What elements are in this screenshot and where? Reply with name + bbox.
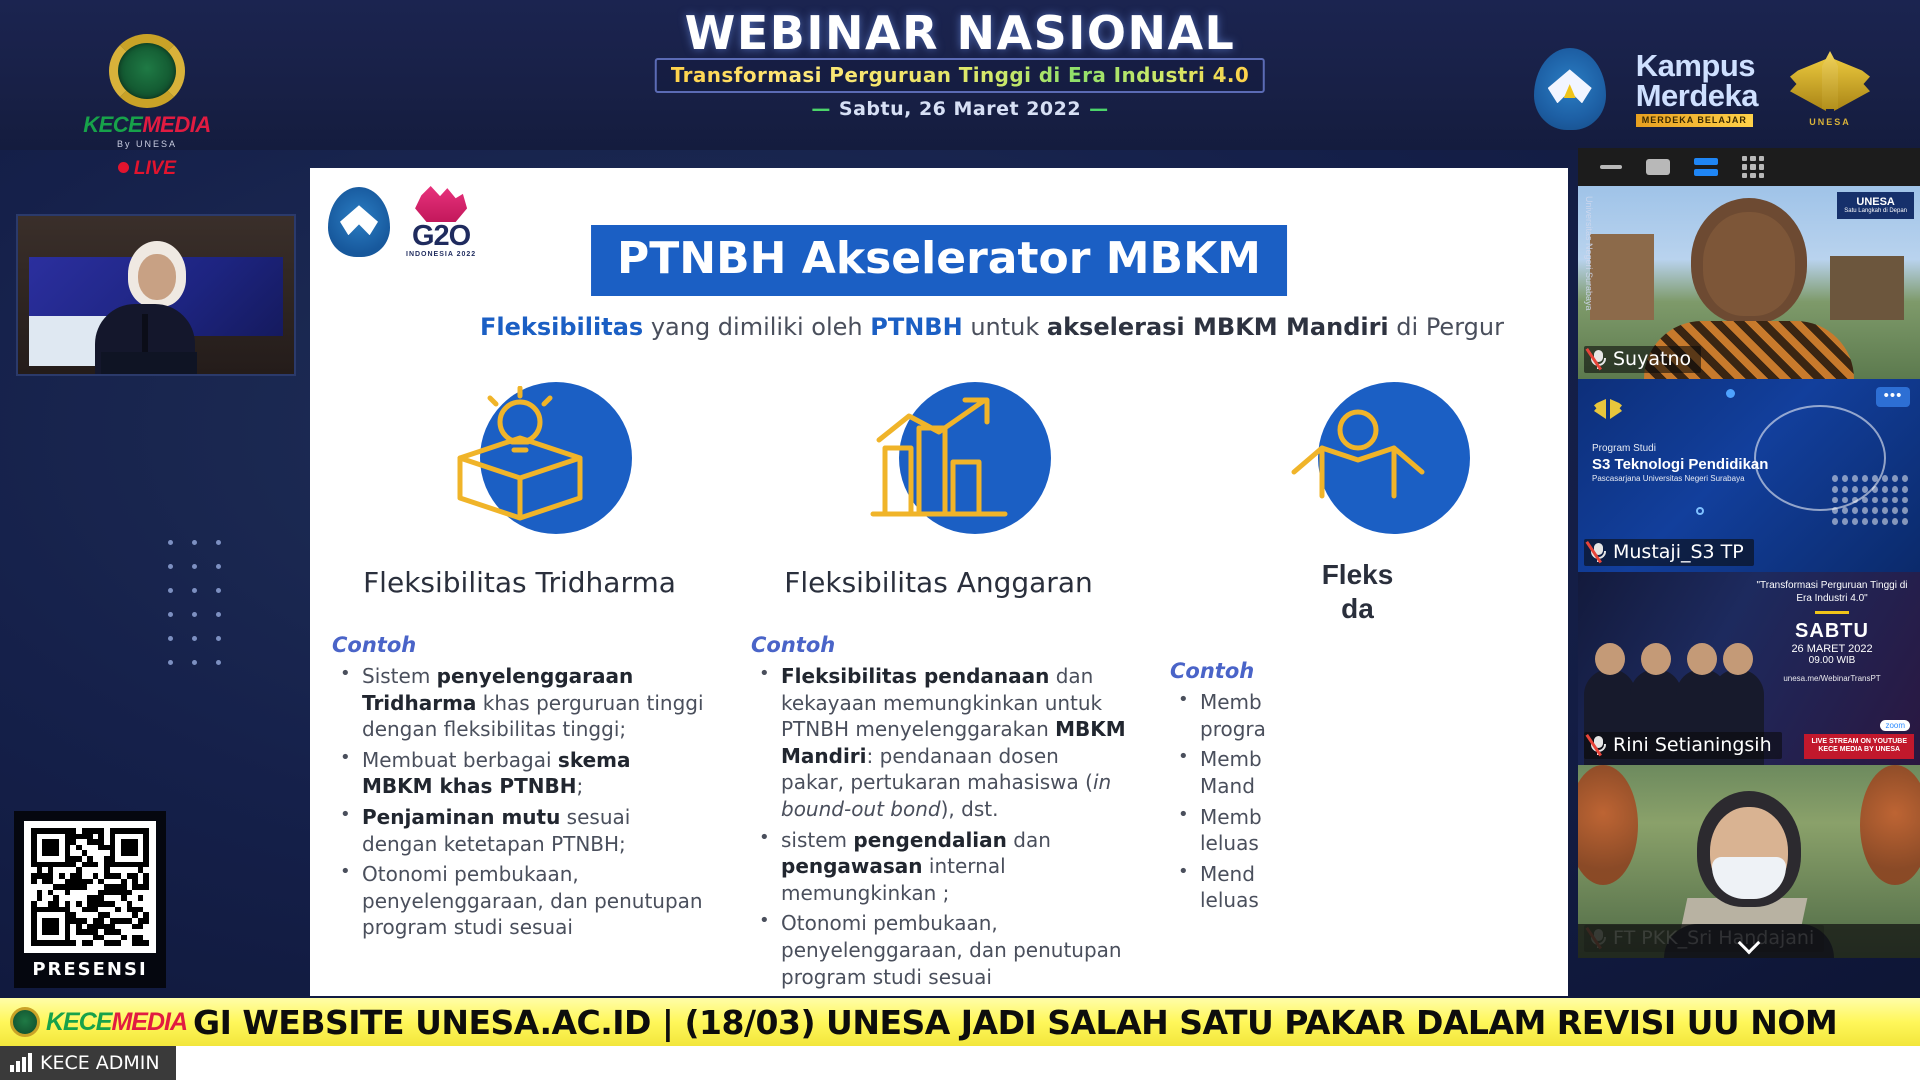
pattern-dot [1872, 518, 1878, 525]
tile3-live-stream-badge: LIVE STREAM ON YOUTUBE KECE MEDIA BY UNE… [1804, 734, 1914, 760]
pattern-dot [1892, 518, 1898, 525]
pattern-dot [1882, 475, 1888, 482]
pattern-dot [1852, 518, 1858, 525]
speaker-view-icon[interactable] [1646, 159, 1670, 175]
participant-name: Suyatno [1613, 348, 1691, 370]
dash-right-icon: — [1089, 98, 1109, 120]
column-heading: Fleksda [1170, 558, 1545, 625]
participant-tile-list: Universitas Negeri Surabaya UNESA Satu L… [1578, 186, 1920, 958]
contoh-label: Contoh [332, 633, 707, 657]
tile2-prodi-sub: Pascasarjana Universitas Negeri Surabaya [1592, 474, 1768, 484]
signal-bars-icon [10, 1055, 32, 1072]
grid-dot [192, 588, 197, 593]
kampus-line1: Kampus [1636, 51, 1758, 80]
bullet-item: Fleksibilitas pendanaan dan kekayaan mem… [751, 663, 1126, 823]
presentation-slide[interactable]: G2O INDONESIA 2022 PTNBH Akselerator MBK… [310, 168, 1568, 996]
pattern-dot [1842, 486, 1848, 493]
qr-cell [143, 940, 149, 946]
ticker-logo: KECEMEDIA [0, 1007, 187, 1037]
grid-dot [168, 540, 173, 545]
slide-subtitle-part: akselerasi MBKM Mandiri [1047, 313, 1389, 341]
chevron-down-icon [1738, 930, 1760, 952]
tut-wuri-handayani-icon [1534, 48, 1606, 130]
slide-subtitle-part: untuk [963, 313, 1047, 341]
brand-name-part1: KECE [83, 112, 142, 137]
bullet-item: Mendleluas [1170, 861, 1545, 914]
admin-label: KECE ADMIN [40, 1052, 160, 1074]
grid-dot [168, 660, 173, 665]
column-bullet-list: MembprograMembMandMembleluasMendleluas [1170, 689, 1545, 914]
column-heading: Fleksibilitas Tridharma [332, 566, 707, 599]
pattern-dot [1872, 486, 1878, 493]
header-subtitle: Transformasi Perguruan Tinggi di Era Ind… [671, 63, 1249, 87]
ticker-logo-part1: KECE [46, 1008, 111, 1036]
pattern-dot [1892, 507, 1898, 514]
bottom-bar [0, 1046, 1920, 1080]
pattern-dot [1862, 507, 1868, 514]
news-ticker: KECEMEDIA GI WEBSITE UNESA.AC.ID | (18/0… [0, 998, 1920, 1046]
grid-dot [192, 564, 197, 569]
ticker-wordmark: KECEMEDIA [46, 1008, 187, 1037]
slide-subtitle-part: PTNBH [870, 313, 962, 341]
lightbulb-in-box-icon [420, 386, 620, 541]
ticker-badge-icon [10, 1007, 40, 1037]
microphone-icon [142, 314, 148, 356]
header-logo-group: Kampus Merdeka MERDEKA BELAJAR UNESA [1534, 48, 1872, 130]
grid-dot [216, 564, 221, 569]
pattern-dot [1852, 497, 1858, 504]
bullet-item: Otonomi pembukaan, penyelenggaraan, dan … [332, 861, 707, 941]
mic-muted-icon [1590, 542, 1607, 563]
tile3-live-line1: LIVE STREAM ON YOUTUBE [1811, 738, 1907, 747]
mic-muted-icon [1590, 349, 1607, 370]
pattern-dot [1882, 518, 1888, 525]
unesa-wing-right [1834, 59, 1870, 111]
panel-scroll-down-button[interactable] [1578, 924, 1920, 958]
participant-tile[interactable]: Universitas Negeri Surabaya UNESA Satu L… [1578, 186, 1920, 379]
slide-subtitle-part: di Pergur [1389, 313, 1504, 341]
bullet-item: MembMand [1170, 746, 1545, 799]
handshake-partnership-icon [1258, 386, 1458, 541]
tile2-prodi-name: S3 Teknologi Pendidikan [1592, 456, 1768, 475]
tile3-live-line2: KECE MEDIA BY UNESA [1811, 746, 1907, 755]
grid-dot [192, 636, 197, 641]
pattern-dot [1852, 507, 1858, 514]
tile3-day: SABTU [1752, 620, 1912, 643]
tile2-program-info: Program Studi S3 Teknologi Pendidikan Pa… [1592, 443, 1768, 484]
kece-media-logo: KECEMEDIA By UNESA LIVE [62, 34, 232, 180]
brand-name-part2: MEDIA [142, 112, 210, 137]
bullet-item: Penjaminan mutu sesuai dengan ketetapan … [332, 804, 707, 857]
participant-name-chip: Suyatno [1584, 346, 1701, 373]
unesa-caption: UNESA [1809, 117, 1851, 127]
more-options-icon[interactable]: ••• [1876, 387, 1910, 407]
participant-tile[interactable]: "Transformasi Perguruan Tinggi di Era In… [1578, 572, 1920, 765]
unesa-logo-icon: UNESA [1788, 49, 1872, 129]
tile2-dot-accent-1 [1726, 389, 1735, 398]
slide-column: Fleksibilitas TridharmaContohSistem peny… [310, 368, 729, 994]
tile1-badge-sub: Satu Langkah di Depan [1844, 208, 1907, 215]
tile3-url: unesa.me/WebinarTransPT [1752, 674, 1912, 683]
live-badge: LIVE [62, 158, 232, 180]
presensi-qr-card[interactable]: PRESENSI [14, 811, 166, 988]
tile1-badge-title: UNESA [1856, 196, 1895, 208]
presenter-video-thumbnail[interactable] [16, 214, 296, 376]
grid-dot [168, 612, 173, 617]
presenter-face [138, 254, 176, 300]
slide-title: PTNBH Akselerator MBKM [591, 225, 1287, 296]
pattern-dot [1872, 497, 1878, 504]
grid-dot [192, 612, 197, 617]
pattern-dot [1832, 518, 1838, 525]
pattern-dot [1832, 475, 1838, 482]
dash-left-icon: — [811, 98, 831, 120]
column-bullet-list: Sistem penyelenggaraan Tridharma khas pe… [332, 663, 707, 941]
slide-column: FleksdaContohMembprograMembMandMemblelua… [1148, 368, 1567, 994]
column-heading: Fleksibilitas Anggaran [751, 566, 1126, 599]
tile1-face [1703, 212, 1795, 316]
mic-muted-icon [1590, 735, 1607, 756]
pattern-dot [1892, 475, 1898, 482]
bullet-item: Membleluas [1170, 804, 1545, 857]
participant-name-chip: Mustaji_S3 TP [1584, 539, 1754, 566]
grid-dot [216, 588, 221, 593]
strip-view-icon[interactable] [1694, 158, 1718, 176]
pattern-dot [1832, 507, 1838, 514]
tile2-prodi-label: Program Studi [1592, 443, 1768, 456]
participant-name: Mustaji_S3 TP [1613, 541, 1744, 563]
bullet-item: Sistem penyelenggaraan Tridharma khas pe… [332, 663, 707, 743]
grid-dot [168, 564, 173, 569]
pattern-dot [1892, 486, 1898, 493]
gallery-view-icon[interactable] [1742, 156, 1764, 178]
kampus-merdeka-logo: Kampus Merdeka MERDEKA BELAJAR [1636, 51, 1758, 126]
kece-media-wordmark: KECEMEDIA [62, 112, 232, 138]
slide-subtitle-part: yang dimiliki oleh [643, 313, 870, 341]
header-date-text: Sabtu, 26 Maret 2022 [839, 98, 1081, 120]
pattern-dot [1902, 486, 1908, 493]
pattern-dot [1862, 518, 1868, 525]
grid-dot [192, 540, 197, 545]
grid-dot [192, 660, 197, 665]
zoom-view-toolbar [1578, 148, 1920, 186]
pattern-dot [1902, 475, 1908, 482]
pattern-dot [1832, 497, 1838, 504]
zoom-video-panel[interactable]: Universitas Negeri Surabaya UNESA Satu L… [1578, 148, 1920, 958]
brand-byline: By UNESA [62, 139, 232, 149]
g20-flame-icon [415, 186, 467, 222]
participant-name: Rini Setianingsih [1613, 734, 1772, 756]
grid-dot [216, 636, 221, 641]
pattern-dot [1862, 486, 1868, 493]
tile3-time: 09.00 WIB [1752, 655, 1912, 666]
kampus-line2: Merdeka [1636, 81, 1758, 110]
g20-sublabel: INDONESIA 2022 [406, 251, 476, 258]
column-icon-area [1170, 368, 1545, 558]
bullet-item: Membuat berbagai skema MBKM khas PTNBH; [332, 747, 707, 800]
slide-logo-group: G2O INDONESIA 2022 [328, 186, 476, 258]
unesa-wing-left [1790, 59, 1826, 111]
admin-status-chip: KECE ADMIN [0, 1046, 176, 1080]
bullet-item: sistem pengendalian dan pengawasan inter… [751, 827, 1126, 907]
tile2-unesa-icon [1594, 397, 1622, 425]
pattern-dot [1902, 507, 1908, 514]
slide-tutwuri-icon [328, 187, 390, 257]
growth-chart-buildings-icon [839, 386, 1039, 541]
bullet-item: Otonomi pembukaan, penyelenggaraan, dan … [751, 910, 1126, 990]
pattern-dot [1902, 518, 1908, 525]
live-dot-icon [118, 162, 129, 173]
tile2-dot-accent-2 [1696, 507, 1704, 515]
presensi-label: PRESENSI [24, 953, 156, 984]
pattern-dot [1832, 486, 1838, 493]
header-subtitle-frame: Transformasi Perguruan Tinggi di Era Ind… [655, 58, 1265, 93]
pattern-dot [1862, 497, 1868, 504]
kampus-tagline: MERDEKA BELAJAR [1636, 114, 1753, 127]
pattern-dot [1842, 518, 1848, 525]
header-date: —Sabtu, 26 Maret 2022— [803, 98, 1116, 120]
tile3-quote: "Transformasi Perguruan Tinggi di Era In… [1752, 580, 1912, 605]
participant-tile[interactable]: Program Studi S3 Teknologi Pendidikan Pa… [1578, 379, 1920, 572]
pattern-dot [1862, 475, 1868, 482]
g20-label: G2O [406, 222, 476, 251]
grid-dot [216, 612, 221, 617]
tile1-side-text: Universitas Negeri Surabaya [1584, 196, 1594, 311]
tile3-divider [1815, 611, 1849, 614]
pattern-dot [1882, 507, 1888, 514]
column-icon-area [751, 368, 1126, 558]
pattern-dot [1872, 475, 1878, 482]
grid-dot [216, 660, 221, 665]
tile1-building-left [1590, 234, 1654, 320]
webinar-stream-stage: WEBINAR NASIONAL Transformasi Perguruan … [0, 0, 1920, 1080]
ticker-logo-part2: MEDIA [111, 1008, 187, 1036]
presenter-podium [101, 352, 197, 374]
column-icon-area [332, 368, 707, 558]
pattern-dot [1842, 507, 1848, 514]
slide-columns: Fleksibilitas TridharmaContohSistem peny… [310, 368, 1568, 994]
contoh-label: Contoh [751, 633, 1126, 657]
bullet-item: Membprogra [1170, 689, 1545, 742]
page-title: WEBINAR NASIONAL [685, 6, 1236, 60]
contoh-label: Contoh [1170, 659, 1545, 683]
laurel-wreath-icon [109, 34, 185, 108]
pattern-dot [1842, 497, 1848, 504]
pattern-dot [1842, 475, 1848, 482]
slide-column: Fleksibilitas AnggaranContohFleksibilita… [729, 368, 1148, 994]
grid-dot [168, 636, 173, 641]
participant-name-chip: Rini Setianingsih [1584, 732, 1782, 759]
grid-dot [216, 540, 221, 545]
tile1-unesa-badge: UNESA Satu Langkah di Depan [1837, 192, 1914, 219]
tile1-building-right [1830, 256, 1904, 320]
pattern-dot [1892, 497, 1898, 504]
slide-subtitle: Fleksibilitas yang dimiliki oleh PTNBH u… [480, 313, 1504, 341]
grid-dot [168, 588, 173, 593]
g20-logo: G2O INDONESIA 2022 [406, 186, 476, 258]
decorative-dot-grid [168, 540, 238, 680]
zoom-tag: zoom [1880, 720, 1910, 731]
live-label: LIVE [134, 158, 176, 179]
pattern-dot [1882, 497, 1888, 504]
pattern-dot [1852, 475, 1858, 482]
tile2-dot-pattern [1832, 475, 1908, 525]
minimize-icon[interactable] [1600, 165, 1622, 169]
pattern-dot [1852, 486, 1858, 493]
pattern-dot [1902, 497, 1908, 504]
tile3-event-info: "Transformasi Perguruan Tinggi di Era In… [1752, 580, 1912, 683]
slide-subtitle-part: Fleksibilitas [480, 313, 643, 341]
tile3-date: 26 MARET 2022 [1752, 643, 1912, 655]
pattern-dot [1882, 486, 1888, 493]
column-bullet-list: Fleksibilitas pendanaan dan kekayaan mem… [751, 663, 1126, 990]
ticker-headline: GI WEBSITE UNESA.AC.ID | (18/03) UNESA J… [187, 1003, 1920, 1042]
qr-code-image [24, 821, 156, 953]
pattern-dot [1872, 507, 1878, 514]
